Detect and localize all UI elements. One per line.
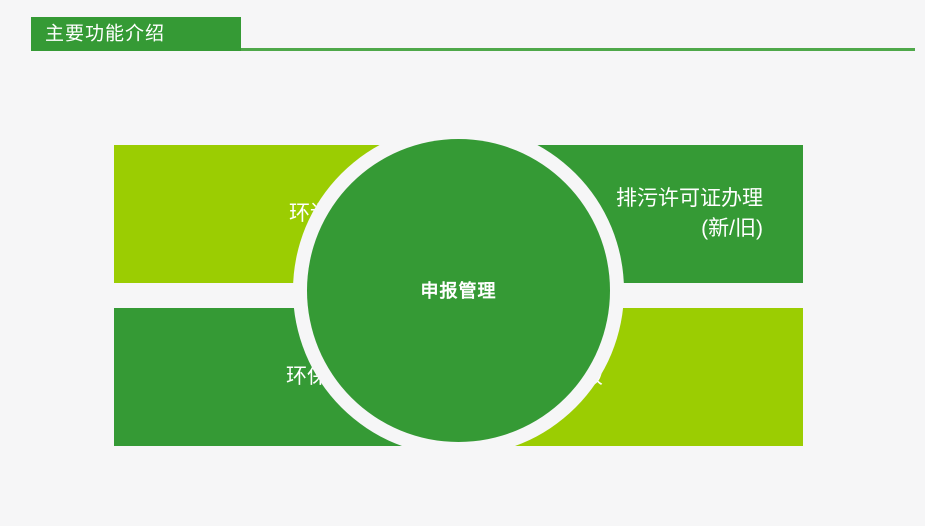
slide-header: 主要功能介绍 [0,0,925,60]
center-circle[interactable]: 申报管理 [307,139,610,442]
page-title: 主要功能介绍 [45,25,165,44]
header-divider-rule [241,48,915,51]
feature-overview-diagram: 环评 排污许可证办理 (新/旧) 环保税 排污申报 申报管理 [114,145,803,439]
slide-title-box: 主要功能介绍 [31,17,241,51]
center-circle-label: 申报管理 [421,282,497,300]
